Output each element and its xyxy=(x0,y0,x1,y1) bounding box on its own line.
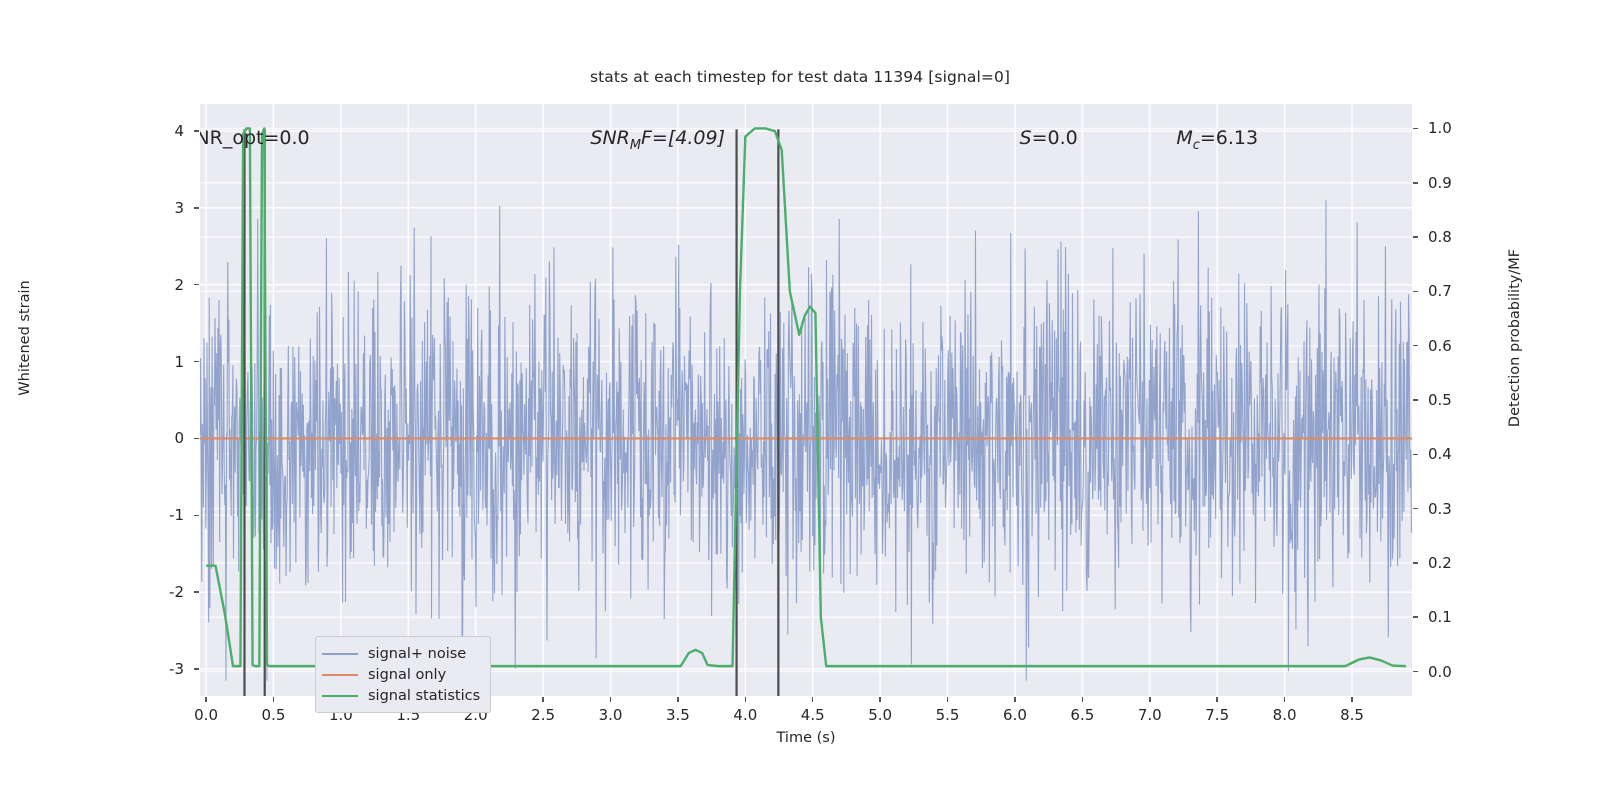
annotation-layer: SNR_opt=0.0SNRMF=[4.09]S=0.0Mc=6.13 xyxy=(200,104,1412,696)
legend-swatch-signal-statistics xyxy=(322,695,358,697)
legend-label-signal-only: signal only xyxy=(368,667,446,683)
annotation-snr-opt: SNR_opt=0.0 xyxy=(200,127,310,149)
y-tick-label-left: 1 xyxy=(174,353,184,371)
x-tick-mark xyxy=(947,697,949,702)
y-tick-mark-right xyxy=(1413,616,1418,618)
x-tick-mark xyxy=(1014,697,1016,702)
annotation-s-stat: S=0.0 xyxy=(1020,127,1078,149)
legend-item-signal-only[interactable]: signal only xyxy=(322,664,482,685)
x-tick-label: 7.5 xyxy=(1205,706,1229,724)
x-axis-label: Time (s) xyxy=(200,730,1412,746)
legend-label-signal-noise: signal+ noise xyxy=(368,646,466,662)
x-tick-label: 5.0 xyxy=(868,706,892,724)
y-tick-label-left: 3 xyxy=(174,199,184,217)
x-tick-label: 8.0 xyxy=(1273,706,1297,724)
x-tick-label: 3.0 xyxy=(599,706,623,724)
y-tick-label-right: 1.0 xyxy=(1428,119,1452,137)
y-tick-mark-left xyxy=(194,130,199,132)
y-tick-mark-left xyxy=(194,284,199,286)
y-tick-label-right: 0.2 xyxy=(1428,554,1452,572)
x-tick-label: 5.5 xyxy=(936,706,960,724)
y-tick-label-right: 0.5 xyxy=(1428,391,1452,409)
legend-item-signal-statistics[interactable]: signal statistics xyxy=(322,685,482,706)
y-tick-mark-right xyxy=(1413,182,1418,184)
x-tick-mark xyxy=(1216,697,1218,702)
y-tick-mark-right xyxy=(1413,236,1418,238)
y-tick-label-left: 2 xyxy=(174,276,184,294)
x-tick-label: 7.0 xyxy=(1138,706,1162,724)
x-tick-label: 6.5 xyxy=(1070,706,1094,724)
y-tick-mark-left xyxy=(194,591,199,593)
x-tick-label: 0.5 xyxy=(262,706,286,724)
legend-label-signal-statistics: signal statistics xyxy=(368,688,480,704)
y-tick-mark-right xyxy=(1413,508,1418,510)
x-tick-label: 8.5 xyxy=(1340,706,1364,724)
x-tick-mark xyxy=(610,697,612,702)
x-tick-mark xyxy=(1082,697,1084,702)
y-tick-mark-right xyxy=(1413,454,1418,456)
annotation-snr-mf: SNRMF=[4.09] xyxy=(590,127,725,153)
y-tick-label-right: 0.9 xyxy=(1428,174,1452,192)
x-tick-mark xyxy=(1351,697,1353,702)
y-tick-label-left: 4 xyxy=(174,122,184,140)
y-tick-label-right: 0.4 xyxy=(1428,445,1452,463)
y-tick-label-right: 0.8 xyxy=(1428,228,1452,246)
x-tick-mark xyxy=(879,697,881,702)
x-tick-mark xyxy=(812,697,814,702)
y-tick-mark-right xyxy=(1413,291,1418,293)
y-tick-mark-right xyxy=(1413,399,1418,401)
x-tick-label: 2.5 xyxy=(531,706,555,724)
y-tick-label-left: -2 xyxy=(169,583,184,601)
legend-item-signal-noise[interactable]: signal+ noise xyxy=(322,643,482,664)
y-tick-mark-right xyxy=(1413,345,1418,347)
y-tick-label-right: 0.3 xyxy=(1428,500,1452,518)
page-title: stats at each timestep for test data 113… xyxy=(0,68,1600,86)
y-axis-right-label: Detection probability/MF xyxy=(1507,178,1523,498)
y-tick-mark-left xyxy=(194,207,199,209)
x-tick-mark xyxy=(273,697,275,702)
y-tick-label-left: 0 xyxy=(174,429,184,447)
x-tick-mark xyxy=(205,697,207,702)
y-axis-left-label: Whitened strain xyxy=(17,208,33,468)
x-tick-label: 6.0 xyxy=(1003,706,1027,724)
x-tick-mark xyxy=(1284,697,1286,702)
y-tick-label-right: 0.6 xyxy=(1428,337,1452,355)
y-tick-label-right: 0.1 xyxy=(1428,608,1452,626)
y-tick-label-left: -1 xyxy=(169,506,184,524)
x-tick-mark xyxy=(677,697,679,702)
x-tick-label: 0.0 xyxy=(194,706,218,724)
y-tick-mark-right xyxy=(1413,562,1418,564)
y-tick-label-right: 0.7 xyxy=(1428,282,1452,300)
x-tick-mark xyxy=(1149,697,1151,702)
y-tick-mark-left xyxy=(194,668,199,670)
plot-area: SNR_opt=0.0SNRMF=[4.09]S=0.0Mc=6.13 xyxy=(200,104,1412,696)
x-tick-label: 4.0 xyxy=(733,706,757,724)
figure-canvas: stats at each timestep for test data 113… xyxy=(0,0,1600,800)
y-tick-mark-left xyxy=(194,438,199,440)
x-tick-label: 3.5 xyxy=(666,706,690,724)
x-tick-mark xyxy=(745,697,747,702)
y-tick-label-right: 0.0 xyxy=(1428,663,1452,681)
y-tick-mark-right xyxy=(1413,128,1418,130)
x-tick-label: 4.5 xyxy=(801,706,825,724)
annotation-mc: Mc=6.13 xyxy=(1176,127,1258,153)
legend-swatch-signal-only xyxy=(322,674,358,676)
legend-swatch-signal-noise xyxy=(322,653,358,655)
y-tick-label-left: -3 xyxy=(169,660,184,678)
y-tick-mark-right xyxy=(1413,671,1418,673)
x-tick-mark xyxy=(542,697,544,702)
y-tick-mark-left xyxy=(194,361,199,363)
chart-legend[interactable]: signal+ noise signal only signal statist… xyxy=(315,636,491,713)
y-tick-mark-left xyxy=(194,515,199,517)
